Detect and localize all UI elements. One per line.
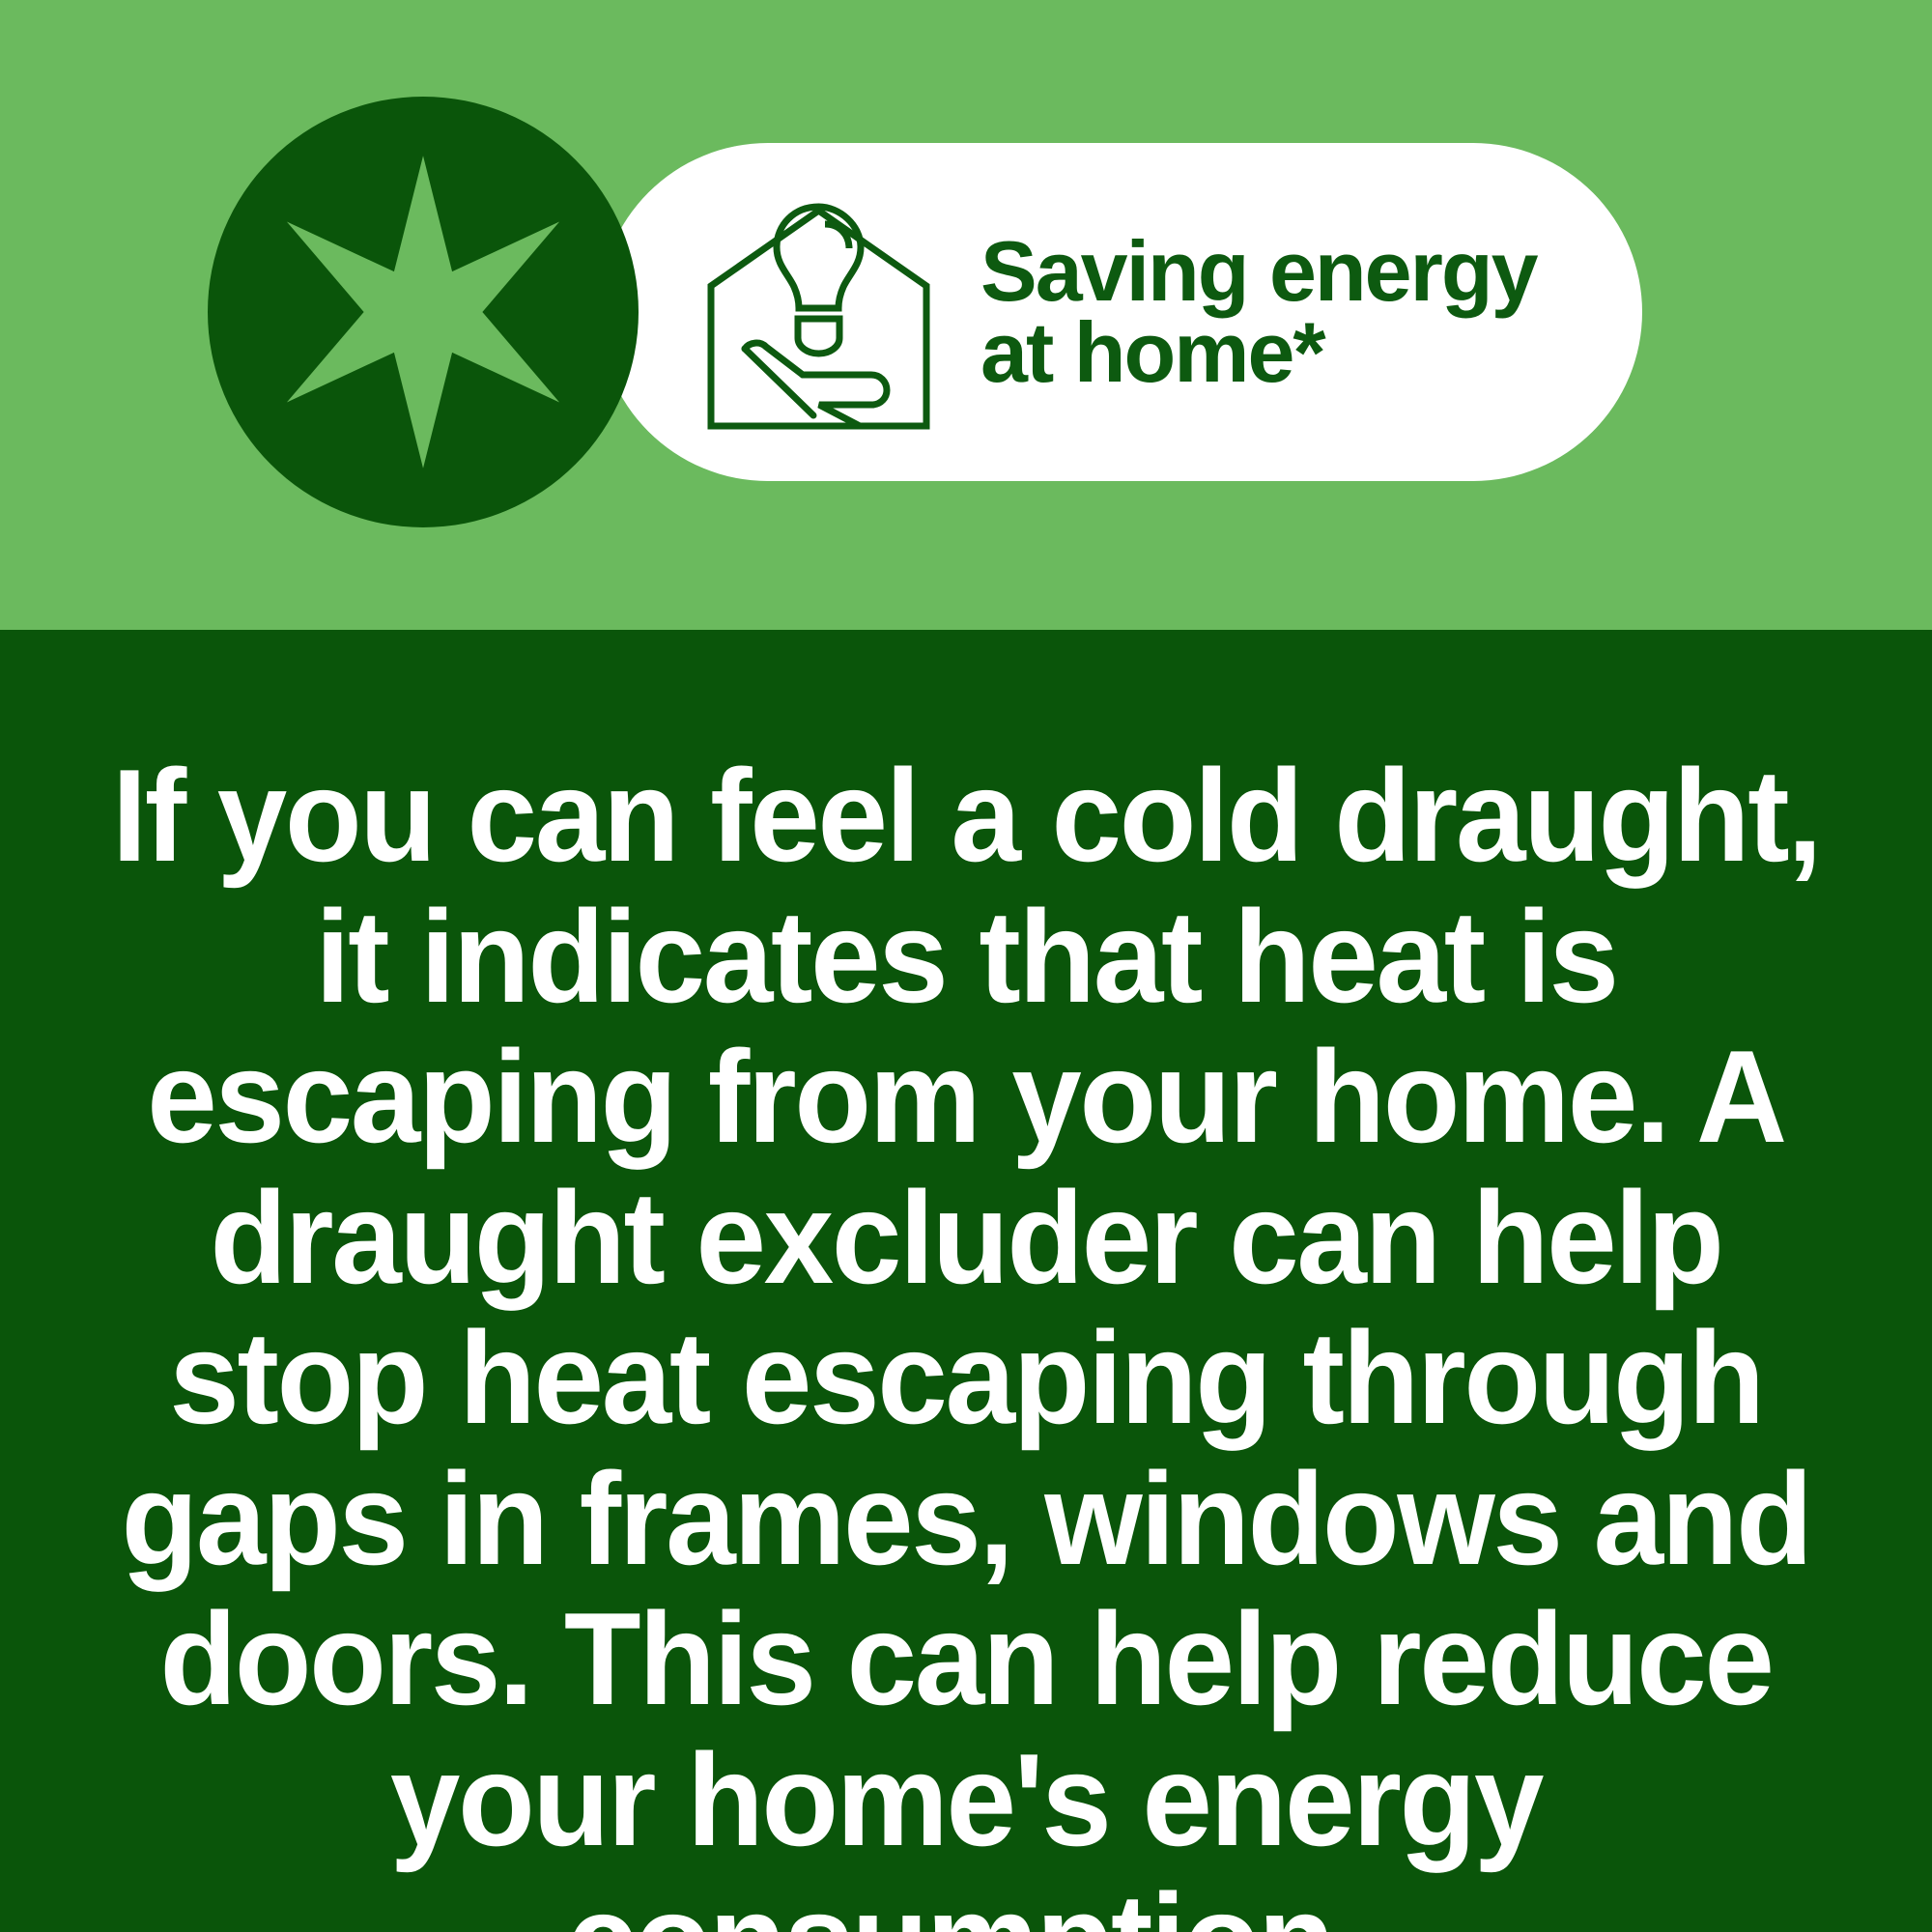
house-with-lightbulb-in-hand-icon	[705, 191, 932, 433]
badge-title: Saving energy at home*	[980, 231, 1537, 392]
energy-saving-poster: Saving energy at home* If you can feel a…	[0, 0, 1932, 1932]
seven-pointed-star-medallion	[208, 97, 639, 527]
main-message-container: If you can feel a cold draught, it indic…	[0, 630, 1932, 1932]
main-message-text: If you can feel a cold draught, it indic…	[90, 746, 1842, 1932]
saving-energy-badge: Saving energy at home*	[599, 143, 1642, 481]
seven-pointed-star-icon	[264, 153, 582, 471]
